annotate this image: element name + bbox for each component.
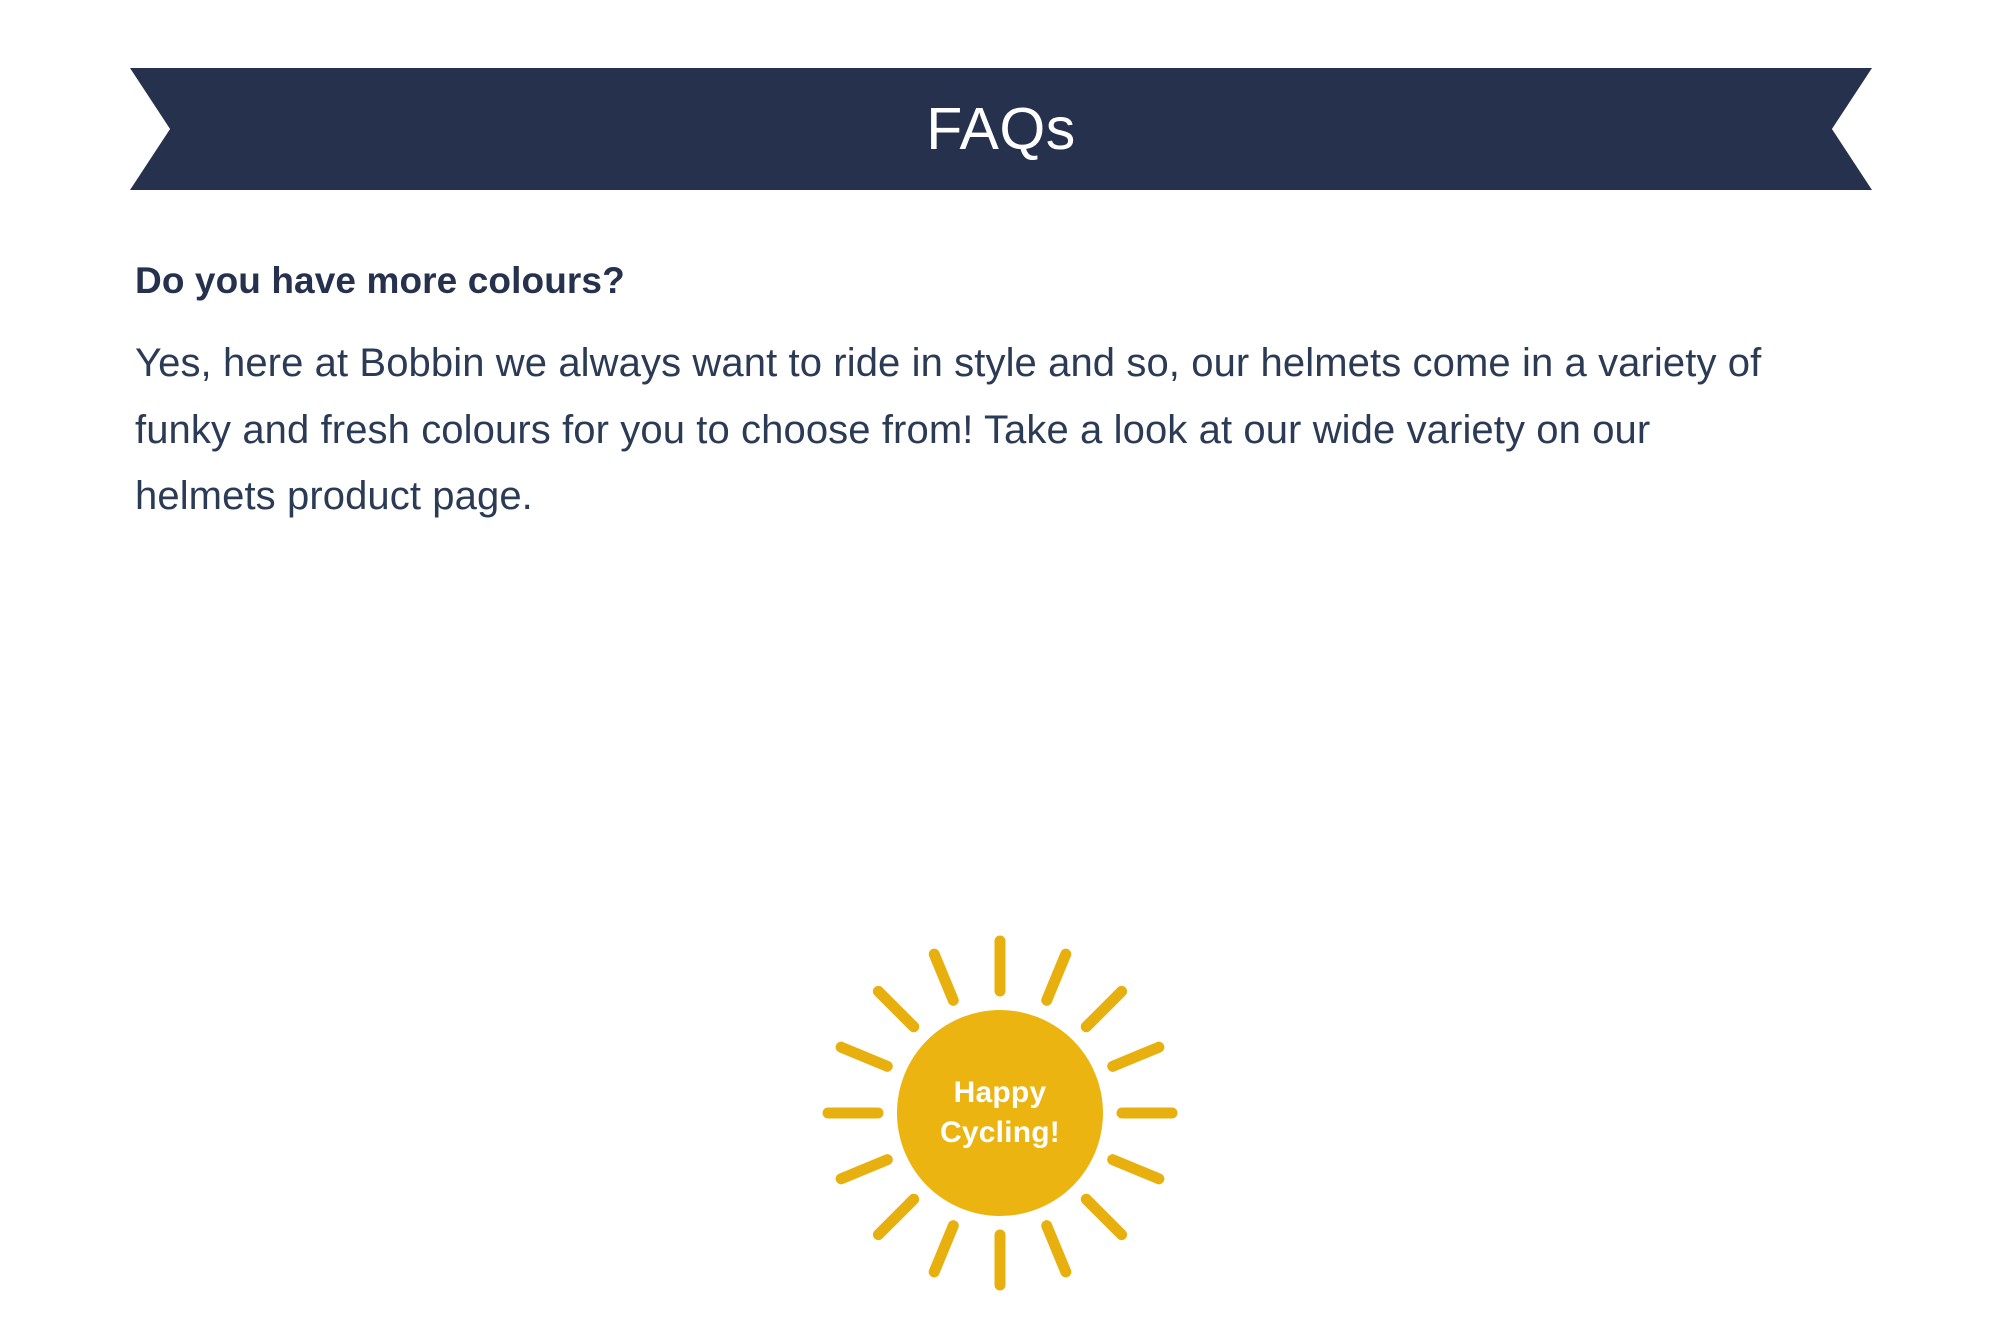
- faq-banner-shape: FAQs: [130, 68, 1872, 190]
- faq-answer: Yes, here at Bobbin we always want to ri…: [135, 330, 1795, 529]
- faq-question: Do you have more colours?: [135, 258, 1815, 304]
- sun-disc: [897, 1010, 1103, 1216]
- faq-content: Do you have more colours? Yes, here at B…: [135, 258, 1815, 529]
- faq-banner: FAQs: [130, 68, 1872, 190]
- happy-cycling-sun-badge: Happy Cycling!: [818, 931, 1182, 1295]
- sun-icon: [818, 931, 1182, 1295]
- faq-banner-title: FAQs: [926, 100, 1076, 159]
